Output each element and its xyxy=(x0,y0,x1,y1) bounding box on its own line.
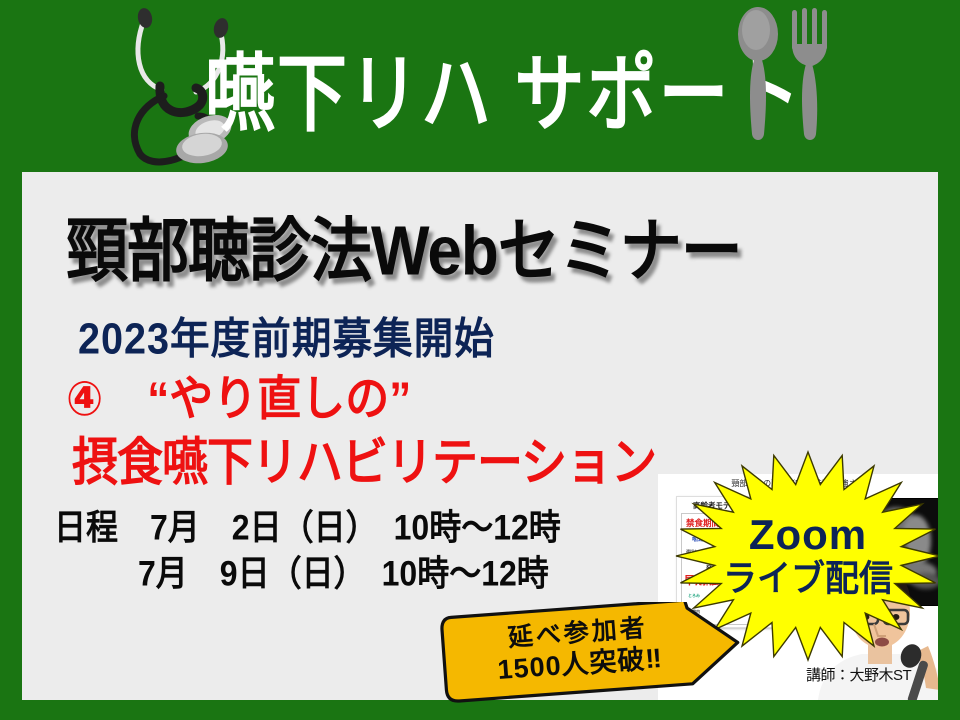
badge-line-2: ライブ配信 xyxy=(723,557,893,601)
header-title: 嚥下リハ サポート xyxy=(205,38,745,150)
topic-line: 摂食嚥下リハビリテーション xyxy=(72,422,656,496)
poster-header: 嚥下リハ サポート xyxy=(0,0,960,172)
series-number-line: ④ “やり直しの” xyxy=(66,360,411,429)
participants-callout: 延べ参加者 1500人突破‼ xyxy=(440,602,752,704)
cutlery-icons xyxy=(730,2,842,152)
presenter-caption: 講師：大野木ST xyxy=(806,664,936,685)
schedule-block: 日程 7月 2日（日） 10時～12時 7月 9日（日） 10時～12時 xyxy=(54,502,561,594)
schedule-row: 日程 7月 2日（日） 10時～12時 xyxy=(54,502,561,553)
schedule-row: 7月 9日（日） 10時～12時 xyxy=(54,548,561,599)
badge-line-1: Zoom xyxy=(749,512,867,558)
fork-icon xyxy=(792,8,827,140)
poster-canvas: 嚥下リハ サポート 頸部聴診法Webセミナー 2023年度前期募集開始 ④ “や… xyxy=(0,0,960,720)
recruitment-subtitle: 2023年度前期募集開始 xyxy=(78,304,495,367)
spoon-icon xyxy=(738,7,778,140)
page-title: 頸部聴診法Webセミナー xyxy=(66,194,742,295)
